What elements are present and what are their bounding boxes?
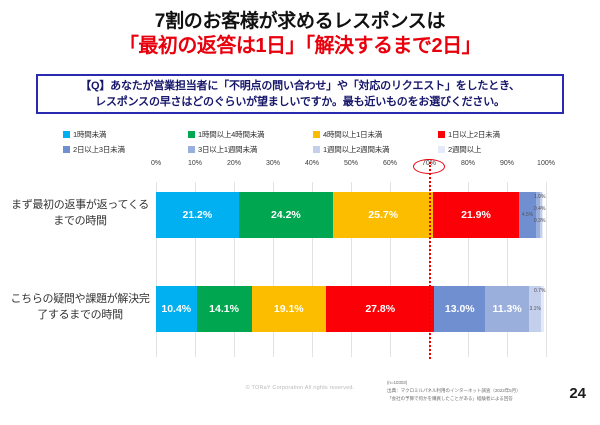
legend-swatch-icon-6 <box>313 146 320 153</box>
x-axis-tick-20%: 20% <box>227 160 241 167</box>
legend-item-0: 1時間未満 <box>63 129 188 140</box>
bar-1-small-value-labels: 0.7% <box>156 286 546 332</box>
legend-label-4: 2日以上3日未満 <box>73 144 125 155</box>
legend-swatch-icon-5 <box>188 146 195 153</box>
title-line-1: 7割のお客様が求めるレスポンスは <box>0 10 600 33</box>
x-axis-tick-90%: 90% <box>500 160 514 167</box>
gridline <box>546 182 547 357</box>
legend-item-1: 1時間以上4時間未満 <box>188 129 313 140</box>
legend-row-1: 1時間未満 1時間以上4時間未満 4時間以上1日未満 1日以上2日未満 <box>63 129 563 140</box>
question-box: 【Q】あなたが営業担当者に「不明点の問い合わせ」や「対応のリクエスト」をしたとき… <box>36 74 564 114</box>
legend-label-1: 1時間以上4時間未満 <box>198 129 264 140</box>
category-label-1: こちらの疑問や課題が解決完了するまでの時間 <box>10 292 150 324</box>
page-number: 24 <box>569 385 586 402</box>
x-axis-tick-60%: 60% <box>383 160 397 167</box>
legend-label-6: 1週間以上2週間未満 <box>323 144 389 155</box>
legend-item-3: 1日以上2日未満 <box>438 129 563 140</box>
source-line-1: (n=10303) <box>387 379 557 387</box>
page-title: 7割のお客様が求めるレスポンスは 「最初の返答は1日」「解決するまで2日」 <box>0 10 600 59</box>
x-axis-tick-100%: 100% <box>537 160 555 167</box>
legend-item-6: 1週間以上2週間未満 <box>313 144 438 155</box>
x-axis-tick-0%: 0% <box>151 160 161 167</box>
legend-item-4: 2日以上3日未満 <box>63 144 188 155</box>
source-line-3: 「会社の予算で何かを購買したことがある」経験者による回答 <box>387 395 557 403</box>
bar-0-small-label-7: 0.3% <box>534 218 545 224</box>
x-axis-tick-10%: 10% <box>188 160 202 167</box>
legend-swatch-icon-2 <box>313 131 320 138</box>
x-axis-tick-80%: 80% <box>461 160 475 167</box>
legend-swatch-icon-3 <box>438 131 445 138</box>
chart-plot-area: 21.2%24.2%25.7%21.9%4.5%1.0%0.4%0.3%10.4… <box>156 182 546 357</box>
category-label-0: まず最初の返事が返ってくるまでの時間 <box>10 198 150 230</box>
legend-swatch-icon-4 <box>63 146 70 153</box>
legend-label-7: 2週間以上 <box>448 144 481 155</box>
bar-0-small-label-6: 0.4% <box>534 206 545 212</box>
bar-1-small-label-7: 0.7% <box>534 288 545 294</box>
legend-swatch-icon-1 <box>188 131 195 138</box>
source-note: (n=10303) 出典：マクロミルパネル利用のインターネット調査（2022年5… <box>387 379 557 403</box>
legend-item-2: 4時間以上1日未満 <box>313 129 438 140</box>
question-line-1: 【Q】あなたが営業担当者に「不明点の問い合わせ」や「対応のリクエスト」をしたとき… <box>80 78 520 95</box>
legend-label-5: 3日以上1週間未満 <box>198 144 257 155</box>
x-axis-tick-40%: 40% <box>305 160 319 167</box>
legend-item-5: 3日以上1週間未満 <box>188 144 313 155</box>
bar-0-small-value-labels: 1.0%0.4%0.3% <box>156 192 546 238</box>
title-line-2: 「最初の返答は1日」「解決するまで2日」 <box>0 34 600 58</box>
legend-swatch-icon-7 <box>438 146 445 153</box>
slide-canvas: 7割のお客様が求めるレスポンスは 「最初の返答は1日」「解決するまで2日」 【Q… <box>0 0 600 425</box>
marker-line-70-percent <box>429 162 431 359</box>
legend-item-7: 2週間以上 <box>438 144 563 155</box>
legend-label-0: 1時間未満 <box>73 129 106 140</box>
legend-label-3: 1日以上2日未満 <box>448 129 500 140</box>
chart-legend: 1時間未満 1時間以上4時間未満 4時間以上1日未満 1日以上2日未満 2日以上… <box>63 129 563 159</box>
legend-swatch-icon-0 <box>63 131 70 138</box>
source-line-2: 出典：マクロミルパネル利用のインターネット調査（2022年5月） <box>387 387 557 395</box>
stacked-bar-chart: 0%10%20%30%40%50%60%70%80%90%100% 21.2%2… <box>0 160 600 360</box>
legend-row-2: 2日以上3日未満 3日以上1週間未満 1週間以上2週間未満 2週間以上 <box>63 144 563 155</box>
x-axis-tick-labels: 0%10%20%30%40%50%60%70%80%90%100% <box>156 160 546 174</box>
x-axis-tick-50%: 50% <box>344 160 358 167</box>
x-axis-tick-30%: 30% <box>266 160 280 167</box>
bar-0-small-label-5: 1.0% <box>534 194 545 200</box>
question-line-2: レスポンスの早さはどのぐらいが望ましいですか。最も近いものをお選びください。 <box>95 94 505 111</box>
legend-label-2: 4時間以上1日未満 <box>323 129 382 140</box>
